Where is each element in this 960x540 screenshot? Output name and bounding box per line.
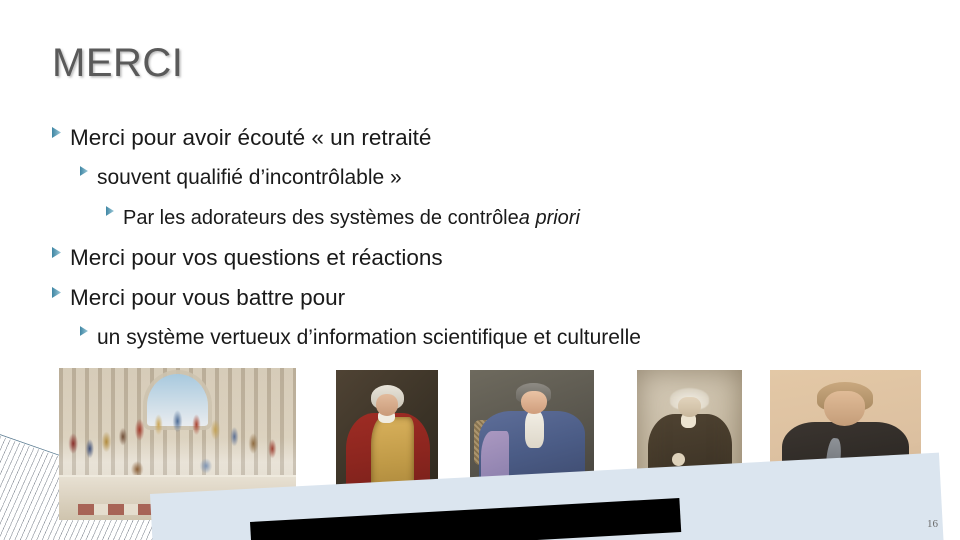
image-school-of-athens-fresco: [59, 368, 296, 520]
bullet-text: Merci pour vous battre pour: [70, 278, 345, 318]
bullet-triangle-icon: [52, 127, 61, 138]
bullet-triangle-icon: [106, 206, 114, 216]
image-diderot-portrait: [470, 370, 594, 518]
image-strip: [0, 368, 960, 528]
image-speaker-photograph: [770, 370, 921, 518]
image-buffon-portrait: [336, 370, 438, 518]
bullet-text: souvent qualifié d’incontrôlable »: [97, 158, 402, 198]
bullet-item: Merci pour vous battre pour: [52, 278, 932, 318]
slide-number: 16: [927, 518, 938, 530]
bullet-item: souvent qualifié d’incontrôlable »: [52, 158, 932, 198]
bullet-text: Merci pour vos questions et réactions: [70, 238, 443, 278]
bullet-text: un système vertueux d’information scient…: [97, 318, 641, 358]
bullet-text: Par les adorateurs des systèmes de contr…: [123, 198, 519, 238]
bullet-triangle-icon: [52, 247, 61, 258]
presentation-slide: MERCI Merci pour avoir écouté « un retra…: [0, 0, 960, 540]
bullet-item: un système vertueux d’information scient…: [52, 318, 932, 358]
bullet-item: Par les adorateurs des systèmes de contr…: [52, 198, 932, 238]
page-title: MERCI: [52, 41, 183, 86]
bullet-triangle-icon: [52, 287, 61, 298]
bullet-item: Merci pour avoir écouté « un retraité: [52, 118, 932, 158]
image-sepia-photograph-portrait: [637, 370, 742, 518]
bullet-text: Merci pour avoir écouté « un retraité: [70, 118, 431, 158]
bullet-item: Merci pour vos questions et réactions: [52, 238, 932, 278]
bullet-list: Merci pour avoir écouté « un retraité so…: [52, 118, 932, 358]
bullet-triangle-icon: [80, 166, 88, 176]
bullet-text-italic: a priori: [519, 198, 580, 238]
bullet-triangle-icon: [80, 326, 88, 336]
